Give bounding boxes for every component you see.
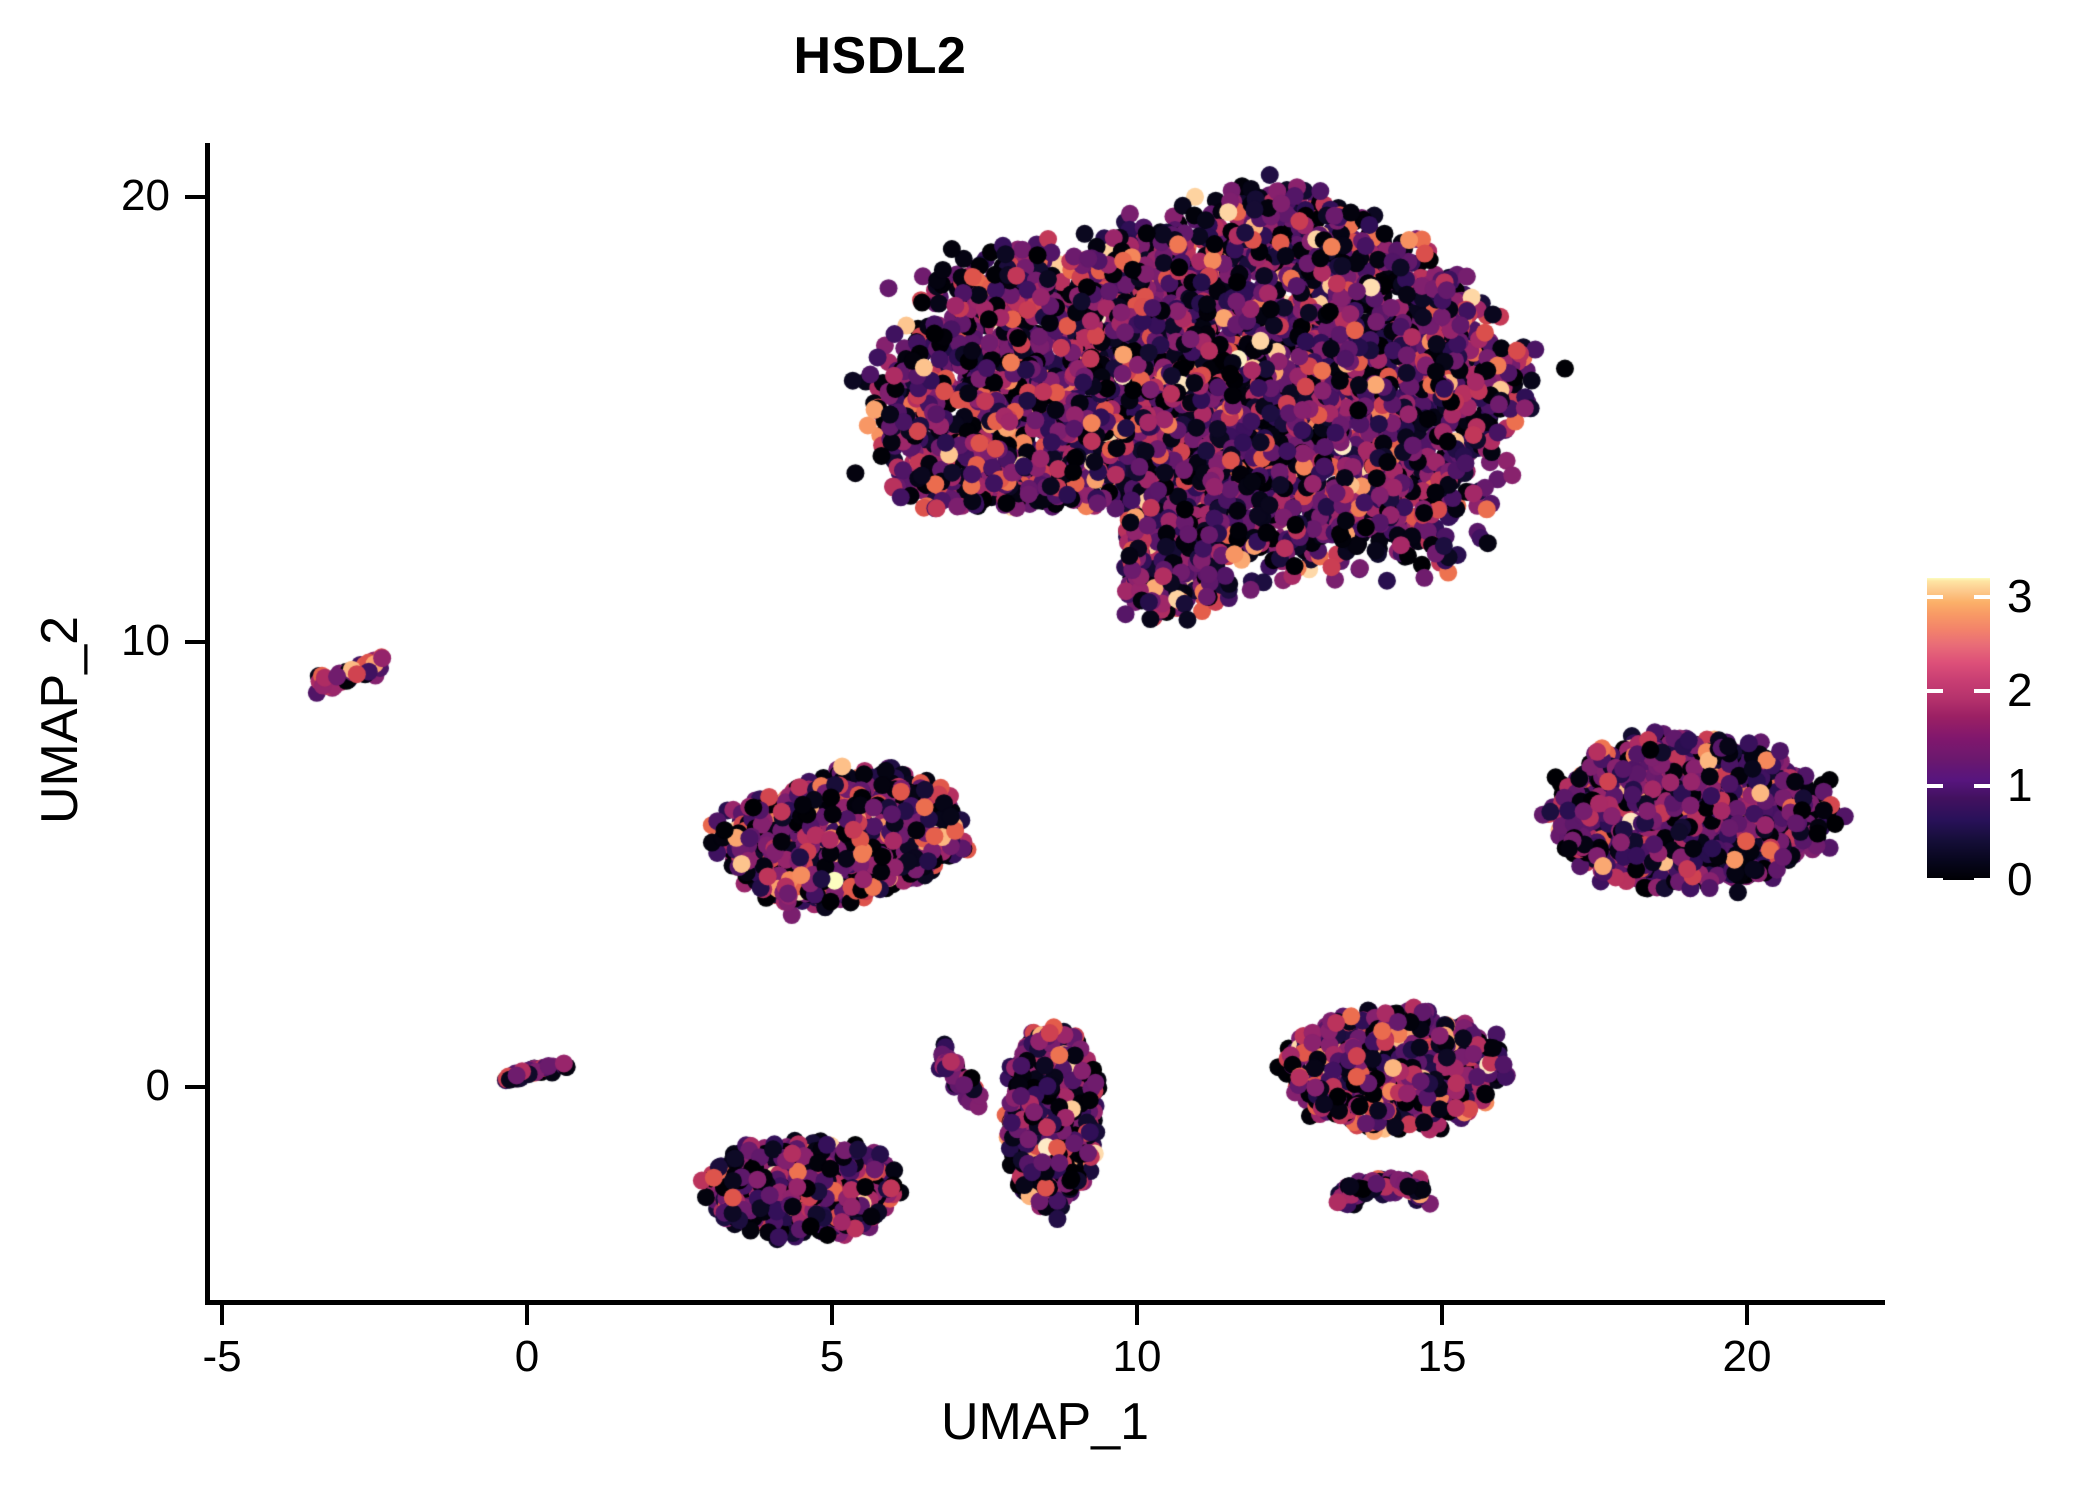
umap-feature-plot: HSDL2 -505101520 20100 UMAP_1 UMAP_2 321… xyxy=(0,0,2100,1500)
x-tick-label: 20 xyxy=(1667,1332,1827,1382)
x-tick-mark xyxy=(1745,1305,1749,1325)
x-tick-mark xyxy=(1440,1305,1444,1325)
x-tick-mark xyxy=(830,1305,834,1325)
y-tick-label: 20 xyxy=(10,171,170,221)
colorbar-tick-mark xyxy=(1974,784,1990,788)
colorbar-tick-mark xyxy=(1974,689,1990,693)
colorbar-tick-label: 2 xyxy=(2007,667,2033,713)
x-tick-label: 5 xyxy=(752,1332,912,1382)
x-tick-mark xyxy=(525,1305,529,1325)
scatter-plot-canvas xyxy=(210,110,1885,1300)
colorbar-gradient xyxy=(1927,578,1990,880)
x-tick-label: 0 xyxy=(447,1332,607,1382)
x-axis-line xyxy=(205,1300,1885,1305)
colorbar-tick-mark xyxy=(1927,784,1943,788)
y-axis-line xyxy=(205,143,210,1305)
x-tick-label: 10 xyxy=(1057,1332,1217,1382)
colorbar-tick-label: 1 xyxy=(2007,762,2033,808)
x-axis-label: UMAP_1 xyxy=(205,1392,1885,1452)
colorbar-tick-mark xyxy=(1927,878,1943,882)
y-axis-label: UMAP_2 xyxy=(30,410,90,1030)
x-tick-mark xyxy=(220,1305,224,1325)
colorbar-tick-label: 0 xyxy=(2007,856,2033,902)
y-tick-mark xyxy=(185,195,205,199)
colorbar-tick-mark xyxy=(1927,689,1943,693)
colorbar-tick-label: 3 xyxy=(2007,573,2033,619)
colorbar-tick-mark xyxy=(1927,595,1943,599)
colorbar-tick-mark xyxy=(1974,595,1990,599)
colorbar-tick-mark xyxy=(1974,878,1990,882)
x-tick-label: 15 xyxy=(1362,1332,1522,1382)
y-tick-mark xyxy=(185,640,205,644)
page-title: HSDL2 xyxy=(0,26,1760,86)
x-tick-mark xyxy=(1135,1305,1139,1325)
y-tick-mark xyxy=(185,1085,205,1089)
y-tick-label: 0 xyxy=(10,1061,170,1111)
colorbar-legend: 3210 xyxy=(1927,578,1990,880)
x-tick-label: -5 xyxy=(142,1332,302,1382)
